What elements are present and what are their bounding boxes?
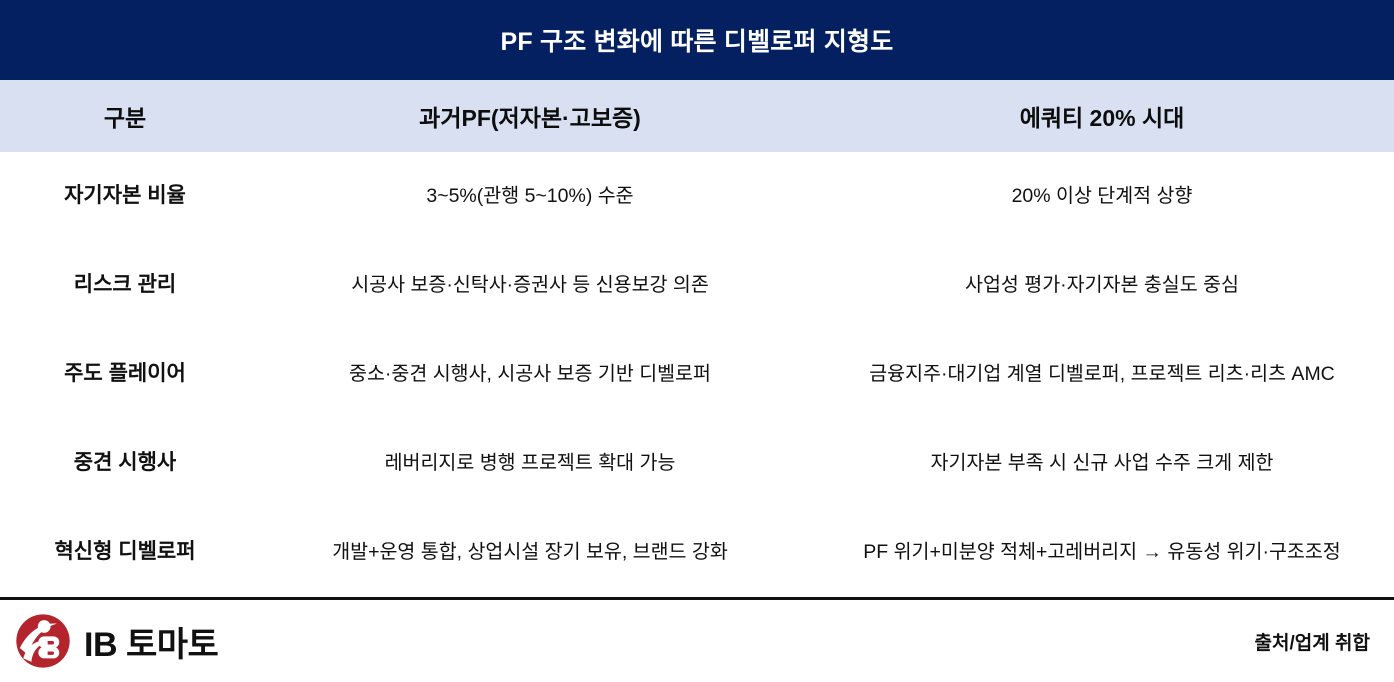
row-value-past-pf: 3~5%(관행 5~10%) 수준	[250, 183, 810, 210]
column-header-category: 구분	[0, 99, 250, 133]
row-value-equity-era: 20% 이상 단계적 상향	[810, 183, 1394, 210]
row-value-equity-era: PF 위기+미분양 적체+고레버리지 → 유동성 위기·구조조정	[810, 539, 1394, 566]
row-value-equity-era: 사업성 평가·자기자본 충실도 중심	[810, 272, 1394, 299]
table-row: 리스크 관리 시공사 보증·신탁사·증권사 등 신용보강 의존 사업성 평가·자…	[0, 241, 1394, 330]
table-row: 중견 시행사 레버리지로 병행 프로젝트 확대 가능 자기자본 부족 시 신규 …	[0, 419, 1394, 508]
row-value-past-pf: 레버리지로 병행 프로젝트 확대 가능	[250, 450, 810, 477]
table-row: 혁신형 디벨로퍼 개발+운영 통합, 상업시설 장기 보유, 브랜드 강화 PF…	[0, 508, 1394, 597]
row-label: 리스크 관리	[0, 271, 250, 300]
row-value-past-pf: 시공사 보증·신탁사·증권사 등 신용보강 의존	[250, 272, 810, 299]
row-value-equity-era: 금융지주·대기업 계열 디벨로퍼, 프로젝트 리츠·리츠 AMC	[810, 361, 1394, 388]
title-bar: PF 구조 변화에 따른 디벨로퍼 지형도	[0, 0, 1394, 80]
row-label: 주도 플레이어	[0, 360, 250, 389]
table-row: 주도 플레이어 중소·중견 시행사, 시공사 보증 기반 디벨로퍼 금융지주·대…	[0, 330, 1394, 419]
column-header-past-pf: 과거PF(저자본·고보증)	[250, 99, 810, 133]
column-header-equity-era: 에쿼티 20% 시대	[810, 99, 1394, 133]
footer: IB 토마토 출처/업계 취합	[0, 600, 1394, 682]
row-label: 혁신형 디벨로퍼	[0, 538, 250, 567]
brand-lockup: IB 토마토	[14, 612, 218, 670]
brand-name: IB 토마토	[84, 617, 218, 666]
row-label: 중견 시행사	[0, 449, 250, 478]
row-value-past-pf: 중소·중견 시행사, 시공사 보증 기반 디벨로퍼	[250, 361, 810, 388]
source-note: 출처/업계 취합	[1255, 628, 1370, 655]
infographic-root: PF 구조 변화에 따른 디벨로퍼 지형도 구분 과거PF(저자본·고보증) 에…	[0, 0, 1394, 682]
row-label: 자기자본 비율	[0, 182, 250, 211]
table-body: 자기자본 비율 3~5%(관행 5~10%) 수준 20% 이상 단계적 상향 …	[0, 152, 1394, 597]
table-column-header: 구분 과거PF(저자본·고보증) 에쿼티 20% 시대	[0, 80, 1394, 152]
row-value-past-pf: 개발+운영 통합, 상업시설 장기 보유, 브랜드 강화	[250, 539, 810, 566]
row-value-equity-era: 자기자본 부족 시 신규 사업 수주 크게 제한	[810, 450, 1394, 477]
table-row: 자기자본 비율 3~5%(관행 5~10%) 수준 20% 이상 단계적 상향	[0, 152, 1394, 241]
page-title: PF 구조 변화에 따른 디벨로퍼 지형도	[501, 22, 894, 58]
tomato-logo-icon	[14, 612, 72, 670]
